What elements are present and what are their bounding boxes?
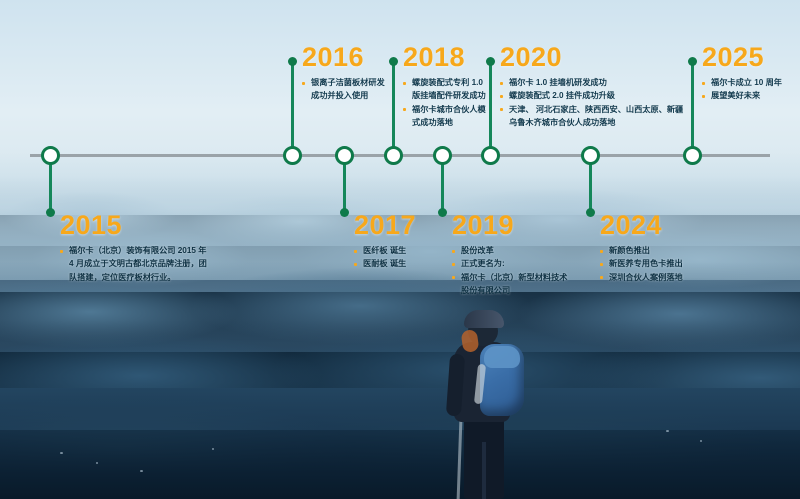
timeline-endpoint-2024: [586, 208, 595, 217]
village-light: [60, 452, 63, 454]
milestone-list-2018: 螺旋装配式专利 1.0版挂墙配件研发成功福尔卡城市合伙人模式成功落地: [403, 77, 486, 130]
milestone-item: 队搭建，定位医疗板材行业。: [60, 272, 207, 284]
village-light: [140, 470, 143, 472]
timeline-stem-2020: [489, 62, 492, 154]
timeline-entry-2019[interactable]: 2019股份改革正式更名为:福尔卡（北京）新型材料技术股份有限公司: [452, 212, 567, 299]
foreground-shadow: [0, 430, 800, 499]
milestone-item: 版挂墙配件研发成功: [403, 90, 486, 102]
timeline-stem-2025: [691, 62, 694, 154]
milestone-item: 螺旋装配式 2.0 挂件成功升级: [500, 90, 683, 102]
timeline-endpoint-2020: [486, 57, 495, 66]
timeline-entry-2017[interactable]: 2017医纤板 诞生医耐板 诞生: [354, 212, 416, 272]
milestone-item: 银离子洁菌板材研发: [302, 77, 385, 89]
milestone-item: 福尔卡（北京）新型材料技术: [452, 272, 567, 284]
year-label-2019: 2019: [452, 212, 567, 239]
milestone-item: 式成功落地: [403, 117, 486, 129]
milestone-item: 医耐板 诞生: [354, 258, 416, 270]
year-label-2024: 2024: [600, 212, 683, 239]
timeline-entry-2015[interactable]: 2015福尔卡（北京）装饰有限公司 2015 年4 月成立于文明古都北京品牌注册…: [60, 212, 207, 285]
milestone-item: 深圳合伙人案例落地: [600, 272, 683, 284]
milestone-item: 福尔卡 1.0 挂墙机研发成功: [500, 77, 683, 89]
timeline-entry-2020[interactable]: 2020福尔卡 1.0 挂墙机研发成功螺旋装配式 2.0 挂件成功升级天津、 河…: [500, 44, 683, 131]
milestone-item: 新医养专用色卡推出: [600, 258, 683, 270]
timeline-entry-2025[interactable]: 2025福尔卡成立 10 周年展望美好未来: [702, 44, 782, 104]
timeline-node-2024[interactable]: [581, 146, 600, 165]
timeline-endpoint-2015: [46, 208, 55, 217]
timeline-node-2016[interactable]: [283, 146, 302, 165]
milestone-item: 成功并投入使用: [302, 90, 385, 102]
timeline-node-2019[interactable]: [433, 146, 452, 165]
timeline-entry-2016[interactable]: 2016银离子洁菌板材研发成功并投入使用: [302, 44, 385, 104]
timeline-endpoint-2018: [389, 57, 398, 66]
milestone-item: 螺旋装配式专利 1.0: [403, 77, 486, 89]
village-light: [666, 430, 669, 432]
milestone-list-2020: 福尔卡 1.0 挂墙机研发成功螺旋装配式 2.0 挂件成功升级天津、 河北石家庄…: [500, 77, 683, 130]
timeline-node-2017[interactable]: [335, 146, 354, 165]
year-label-2015: 2015: [60, 212, 207, 239]
milestone-item: 天津、 河北石家庄、陕西西安、山西太原、新疆: [500, 104, 683, 116]
milestone-item: 展望美好未来: [702, 90, 782, 102]
milestone-item: 福尔卡成立 10 周年: [702, 77, 782, 89]
infographic-canvas: 2015福尔卡（北京）装饰有限公司 2015 年4 月成立于文明古都北京品牌注册…: [0, 0, 800, 499]
timeline-entry-2024[interactable]: 2024新颜色推出新医养专用色卡推出深圳合伙人案例落地: [600, 212, 683, 285]
milestone-item: 新颜色推出: [600, 245, 683, 257]
timeline-stem-2016: [291, 62, 294, 154]
timeline-node-2025[interactable]: [683, 146, 702, 165]
village-light: [700, 440, 702, 442]
timeline-node-2020[interactable]: [481, 146, 500, 165]
backpack-lid: [484, 346, 520, 368]
timeline-entry-2018[interactable]: 2018螺旋装配式专利 1.0版挂墙配件研发成功福尔卡城市合伙人模式成功落地: [403, 44, 486, 131]
year-label-2020: 2020: [500, 44, 683, 71]
trekking-pole: [457, 420, 463, 499]
hiker-leg-separation: [482, 442, 486, 499]
year-label-2018: 2018: [403, 44, 486, 71]
timeline-endpoint-2019: [438, 208, 447, 217]
hiker-figure: [432, 302, 552, 499]
year-label-2025: 2025: [702, 44, 782, 71]
milestone-list-2016: 银离子洁菌板材研发成功并投入使用: [302, 77, 385, 103]
village-light: [212, 448, 214, 450]
milestone-list-2015: 福尔卡（北京）装饰有限公司 2015 年4 月成立于文明古都北京品牌注册，团队搭…: [60, 245, 207, 284]
milestone-item: 4 月成立于文明古都北京品牌注册，团: [60, 258, 207, 270]
milestone-list-2024: 新颜色推出新医养专用色卡推出深圳合伙人案例落地: [600, 245, 683, 284]
milestone-item: 福尔卡（北京）装饰有限公司 2015 年: [60, 245, 207, 257]
year-label-2017: 2017: [354, 212, 416, 239]
milestone-list-2025: 福尔卡成立 10 周年展望美好未来: [702, 77, 782, 103]
timeline-node-2015[interactable]: [41, 146, 60, 165]
timeline-node-2018[interactable]: [384, 146, 403, 165]
timeline-stem-2018: [392, 62, 395, 154]
timeline-endpoint-2025: [688, 57, 697, 66]
milestone-list-2019: 股份改革正式更名为:福尔卡（北京）新型材料技术股份有限公司: [452, 245, 567, 298]
milestone-item: 乌鲁木齐城市合伙人成功落地: [500, 117, 683, 129]
hiker-cap: [464, 310, 504, 328]
milestone-item: 福尔卡城市合伙人模: [403, 104, 486, 116]
milestone-item: 医纤板 诞生: [354, 245, 416, 257]
timeline-endpoint-2016: [288, 57, 297, 66]
milestone-item: 正式更名为:: [452, 258, 567, 270]
milestone-item: 股份有限公司: [452, 285, 567, 297]
milestone-list-2017: 医纤板 诞生医耐板 诞生: [354, 245, 416, 271]
village-light: [96, 462, 98, 464]
year-label-2016: 2016: [302, 44, 385, 71]
milestone-item: 股份改革: [452, 245, 567, 257]
timeline-endpoint-2017: [340, 208, 349, 217]
